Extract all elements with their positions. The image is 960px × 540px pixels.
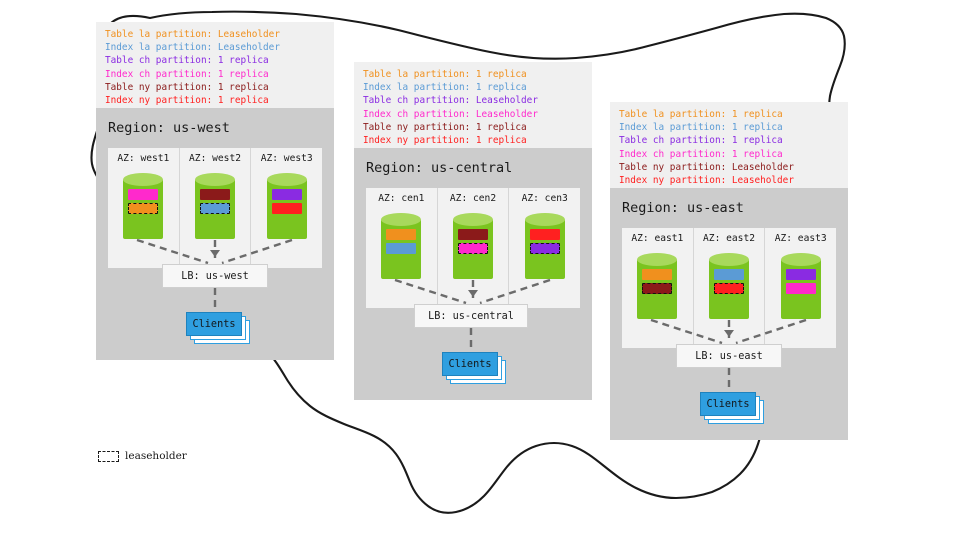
az-strip-us-east: AZ: east1 AZ: east2 AZ: east3 (622, 228, 836, 348)
az-east3[interactable]: AZ: east3 (765, 228, 836, 348)
az-east2[interactable]: AZ: east2 (694, 228, 766, 348)
replica-bar-table-ch (786, 269, 816, 280)
cylinder-west3 (267, 173, 307, 241)
az-east1[interactable]: AZ: east1 (622, 228, 694, 348)
replica-bar-index-ny (530, 229, 560, 240)
infoline-table-ch: Table ch partition: 1 replica (619, 134, 839, 147)
cylinder-cen3 (525, 213, 565, 281)
lb-us-central[interactable]: LB: us-central (414, 304, 528, 328)
replica-bar-index-ny (272, 203, 302, 214)
az-label-east3: AZ: east3 (765, 233, 836, 244)
az-label-east2: AZ: east2 (694, 233, 765, 244)
region-title-us-central: Region: us-central (366, 160, 512, 176)
az-label-cen2: AZ: cen2 (438, 193, 509, 204)
infobox-us-east: Table la partition: 1 replica Index la p… (610, 102, 848, 188)
infobox-us-central: Table la partition: 1 replica Index la p… (354, 62, 592, 148)
replica-bar-index-la (386, 243, 416, 254)
infoline-table-la: Table la partition: 1 replica (619, 108, 839, 121)
cylinder-cen2 (453, 213, 493, 281)
az-west2[interactable]: AZ: west2 (180, 148, 252, 268)
replica-bar-table-ny (458, 229, 488, 240)
infoline-table-ch: Table ch partition: Leaseholder (363, 94, 583, 107)
replica-bar-index-ch-leaseholder (458, 243, 488, 254)
region-title-us-east: Region: us-east (622, 200, 744, 216)
replica-bar-index-ch (786, 283, 816, 294)
infoline-table-ny: Table ny partition: 1 replica (105, 81, 325, 94)
az-cen3[interactable]: AZ: cen3 (509, 188, 580, 308)
infoline-index-la: Index la partition: 1 replica (363, 81, 583, 94)
cylinder-east2 (709, 253, 749, 321)
clients-box[interactable]: Clients (186, 312, 242, 336)
cylinder-top (525, 213, 565, 226)
cylinder-east1 (637, 253, 677, 321)
infoline-index-ch: Index ch partition: 1 replica (619, 148, 839, 161)
replica-bar-index-la (714, 269, 744, 280)
cylinder-west1 (123, 173, 163, 241)
lb-us-west[interactable]: LB: us-west (162, 264, 268, 288)
cylinder-top (381, 213, 421, 226)
cylinder-top (781, 253, 821, 266)
az-label-west3: AZ: west3 (251, 153, 322, 164)
replica-bar-table-la (386, 229, 416, 240)
az-strip-us-central: AZ: cen1 AZ: cen2 AZ: cen3 (366, 188, 580, 308)
replica-bar-index-ny-leaseholder (714, 283, 744, 294)
cylinder-top (637, 253, 677, 266)
cylinder-top (123, 173, 163, 186)
diagram-canvas: Region: us-west AZ: west1 AZ: west2 AZ: … (0, 0, 960, 540)
clients-box[interactable]: Clients (442, 352, 498, 376)
cylinder-top (453, 213, 493, 226)
infoline-index-ny: Index ny partition: 1 replica (105, 94, 325, 107)
cylinder-top (195, 173, 235, 186)
leaseholder-key-label: leaseholder (125, 450, 187, 462)
infoline-table-ny: Table ny partition: Leaseholder (619, 161, 839, 174)
cylinder-cen1 (381, 213, 421, 281)
replica-bar-table-ny-leaseholder (642, 283, 672, 294)
infoline-index-la: Index la partition: 1 replica (619, 121, 839, 134)
az-label-west2: AZ: west2 (180, 153, 251, 164)
infoline-index-la: Index la partition: Leaseholder (105, 41, 325, 54)
cylinder-east3 (781, 253, 821, 321)
az-strip-us-west: AZ: west1 AZ: west2 AZ: west3 (108, 148, 322, 268)
replica-bar-index-ch (128, 189, 158, 200)
infoline-index-ny: Index ny partition: Leaseholder (619, 174, 839, 187)
infoline-table-la: Table la partition: Leaseholder (105, 28, 325, 41)
az-label-cen1: AZ: cen1 (366, 193, 437, 204)
clients-us-central[interactable]: Clients (442, 352, 506, 384)
clients-us-east[interactable]: Clients (700, 392, 764, 424)
infoline-index-ch: Index ch partition: 1 replica (105, 68, 325, 81)
leaseholder-key: leaseholder (98, 450, 187, 462)
az-west3[interactable]: AZ: west3 (251, 148, 322, 268)
infoline-table-ch: Table ch partition: 1 replica (105, 54, 325, 67)
az-label-west1: AZ: west1 (108, 153, 179, 164)
infoline-table-la: Table la partition: 1 replica (363, 68, 583, 81)
az-cen1[interactable]: AZ: cen1 (366, 188, 438, 308)
replica-bar-table-ch-leaseholder (530, 243, 560, 254)
cylinder-west2 (195, 173, 235, 241)
leaseholder-swatch-icon (98, 451, 119, 462)
lb-us-east[interactable]: LB: us-east (676, 344, 782, 368)
replica-bar-index-la-leaseholder (200, 203, 230, 214)
infoline-index-ny: Index ny partition: 1 replica (363, 134, 583, 147)
clients-box[interactable]: Clients (700, 392, 756, 416)
region-title-us-west: Region: us-west (108, 120, 230, 136)
cylinder-top (267, 173, 307, 186)
az-cen2[interactable]: AZ: cen2 (438, 188, 510, 308)
replica-bar-table-ch (272, 189, 302, 200)
az-label-cen3: AZ: cen3 (509, 193, 580, 204)
az-label-east1: AZ: east1 (622, 233, 693, 244)
cylinder-top (709, 253, 749, 266)
replica-bar-table-la (642, 269, 672, 280)
clients-us-west[interactable]: Clients (186, 312, 250, 344)
infobox-us-west: Table la partition: Leaseholder Index la… (96, 22, 334, 108)
az-west1[interactable]: AZ: west1 (108, 148, 180, 268)
replica-bar-table-ny (200, 189, 230, 200)
infoline-table-ny: Table ny partition: 1 replica (363, 121, 583, 134)
infoline-index-ch: Index ch partition: Leaseholder (363, 108, 583, 121)
replica-bar-table-la-leaseholder (128, 203, 158, 214)
